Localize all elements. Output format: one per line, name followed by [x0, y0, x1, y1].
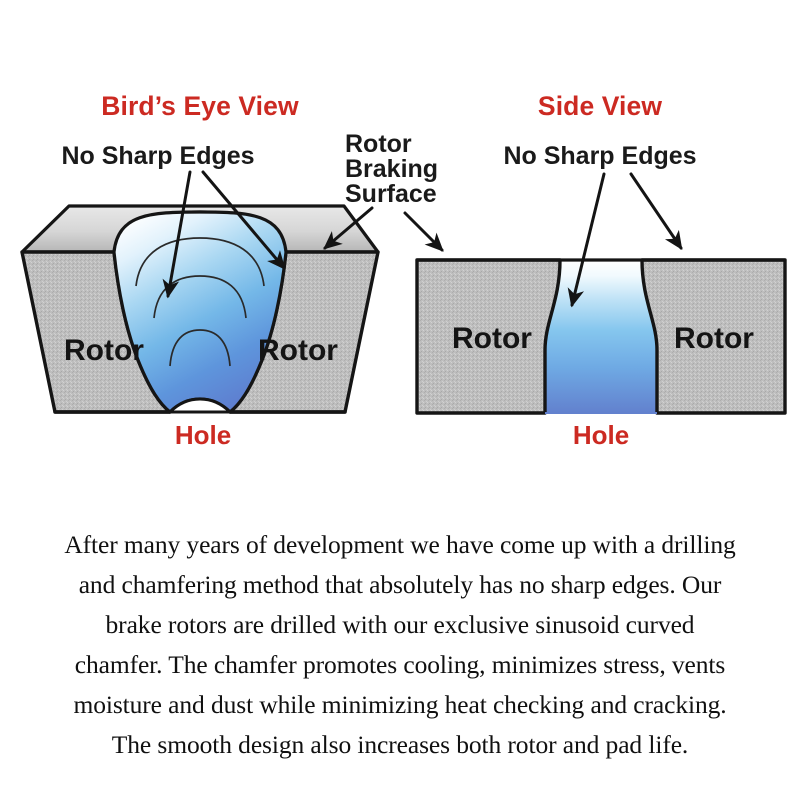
rotor-braking-surface-line-2: Braking	[345, 155, 438, 183]
description-paragraph: After many years of development we have …	[0, 525, 800, 765]
side-view-group: Side View No Sharp Edges Rotor Rotor Hol…	[405, 91, 785, 450]
caption-line: After many years of development we have …	[0, 525, 800, 565]
rotor-label-right-birds-eye: Rotor	[258, 334, 338, 367]
hole-label-side-view: Hole	[573, 420, 629, 450]
caption-line: The smooth design also increases both ro…	[0, 725, 800, 765]
rotor-label-right-side-view: Rotor	[674, 322, 754, 355]
hole-label-birds-eye: Hole	[175, 420, 231, 450]
caption-line: and chamfering method that absolutely ha…	[0, 565, 800, 605]
arrow-side-no-sharp-edges-right	[631, 174, 681, 248]
birds-eye-view-group: Bird’s Eye View No Sharp Edges Rotor Bra…	[22, 91, 438, 450]
arrow-side-rotor-braking-surface	[405, 213, 442, 250]
side-view-title: Side View	[538, 91, 662, 121]
diagram-page: Bird’s Eye View No Sharp Edges Rotor Bra…	[0, 0, 800, 800]
birds-eye-no-sharp-edges-label: No Sharp Edges	[61, 142, 254, 170]
caption-line: brake rotors are drilled with our exclus…	[0, 605, 800, 645]
rotor-braking-surface-line-3: Surface	[345, 180, 437, 208]
rotor-label-left-side-view: Rotor	[452, 322, 532, 355]
caption-line: moisture and dust while minimizing heat …	[0, 685, 800, 725]
caption-line: chamfer. The chamfer promotes cooling, m…	[0, 645, 800, 685]
rotor-label-left-birds-eye: Rotor	[64, 334, 144, 367]
side-view-no-sharp-edges-label: No Sharp Edges	[503, 142, 696, 170]
rotor-braking-surface-line-1: Rotor	[345, 130, 412, 158]
birds-eye-title: Bird’s Eye View	[101, 91, 299, 121]
